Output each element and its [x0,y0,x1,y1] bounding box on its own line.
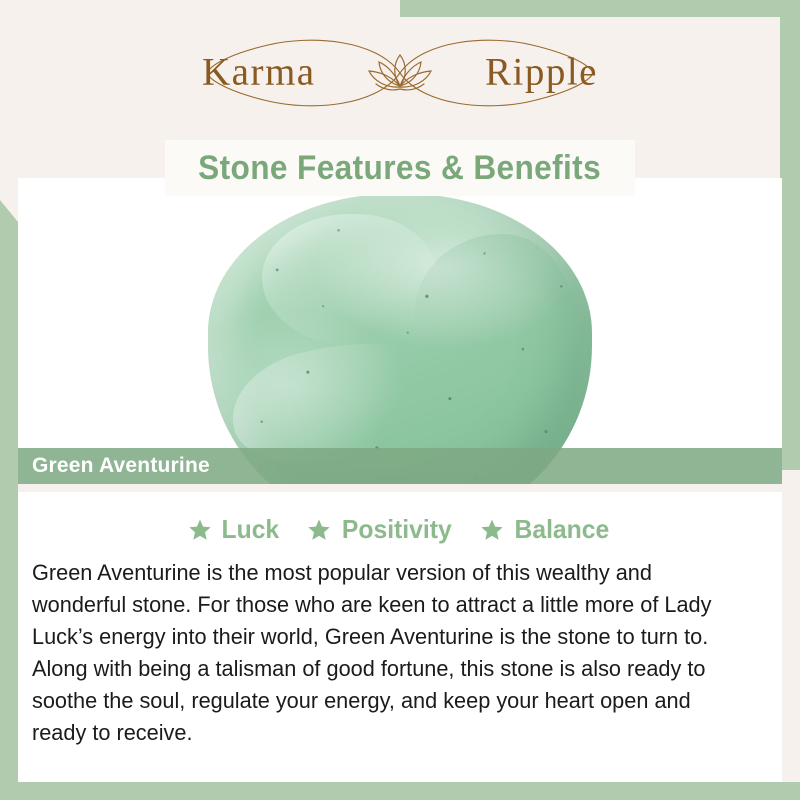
brand-logo: Karma Ripple [0,28,800,118]
benefit-item-balance: Balance [480,514,612,545]
star-icon [307,518,331,542]
brand-mark: Karma Ripple [190,31,610,115]
top-right-accent-bar [400,0,800,17]
stone-name-bar: Green Aventurine [18,448,782,484]
benefit-label: Balance [515,514,610,545]
stone-description: Green Aventurine is the most popular ver… [32,557,742,749]
content-card: Luck Positivity Balance Green Aventurine… [18,492,782,782]
stone-benefits-infographic: Karma Ripple Stone Features & Benefits G… [0,0,800,800]
stone-image-wrap [18,178,782,484]
benefit-item-luck: Luck [188,514,281,545]
page-title: Stone Features & Benefits [199,149,602,188]
star-icon [480,518,504,542]
left-accent-bar [0,200,18,800]
section-title-panel: Stone Features & Benefits [165,140,635,196]
benefits-row: Luck Positivity Balance [18,492,782,545]
stone-speckles [208,194,592,484]
brand-name-second: Ripple [485,50,598,95]
benefit-label: Luck [222,514,280,545]
bottom-accent-bar [0,782,800,800]
benefit-label: Positivity [342,514,452,545]
stone-name-label: Green Aventurine [32,454,210,478]
star-icon [188,518,212,542]
green-aventurine-stone-photo [208,194,592,484]
brand-name-first: Karma [202,50,316,95]
stone-photo [18,178,782,484]
benefit-item-positivity: Positivity [307,514,455,545]
